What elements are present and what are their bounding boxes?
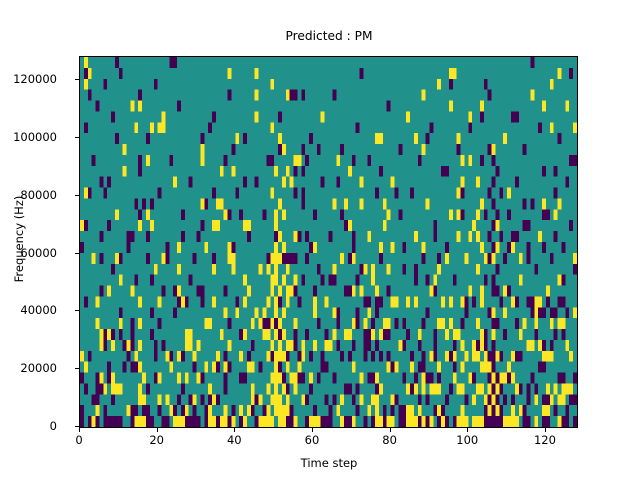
heatmap-plot-area bbox=[79, 56, 578, 428]
x-tick-label: 40 bbox=[204, 434, 264, 446]
x-axis-label: Time step bbox=[79, 456, 579, 470]
x-tick-label: 60 bbox=[282, 434, 342, 446]
y-tick-label: 0 bbox=[0, 420, 57, 432]
x-tick-label: 0 bbox=[49, 434, 109, 446]
x-tick-mark bbox=[79, 428, 80, 432]
matplotlib-figure: Predicted : PM Frequency (Hz) 0200004000… bbox=[0, 0, 640, 480]
y-tick-label: 60000 bbox=[0, 247, 57, 259]
x-tick-mark bbox=[390, 428, 391, 432]
x-tick-mark bbox=[312, 428, 313, 432]
x-tick-mark bbox=[157, 428, 158, 432]
y-tick-label: 100000 bbox=[0, 131, 57, 143]
page-title: Predicted : PM bbox=[79, 28, 579, 44]
x-tick-mark bbox=[467, 428, 468, 432]
x-tick-mark bbox=[234, 428, 235, 432]
y-tick-label: 20000 bbox=[0, 362, 57, 374]
heatmap-image bbox=[80, 57, 577, 427]
x-tick-label: 120 bbox=[515, 434, 575, 446]
y-tick-label: 80000 bbox=[0, 189, 57, 201]
x-tick-mark bbox=[545, 428, 546, 432]
y-tick-label: 40000 bbox=[0, 304, 57, 316]
x-tick-label: 100 bbox=[437, 434, 497, 446]
x-tick-label: 80 bbox=[360, 434, 420, 446]
y-tick-label: 120000 bbox=[0, 73, 57, 85]
x-tick-label: 20 bbox=[127, 434, 187, 446]
